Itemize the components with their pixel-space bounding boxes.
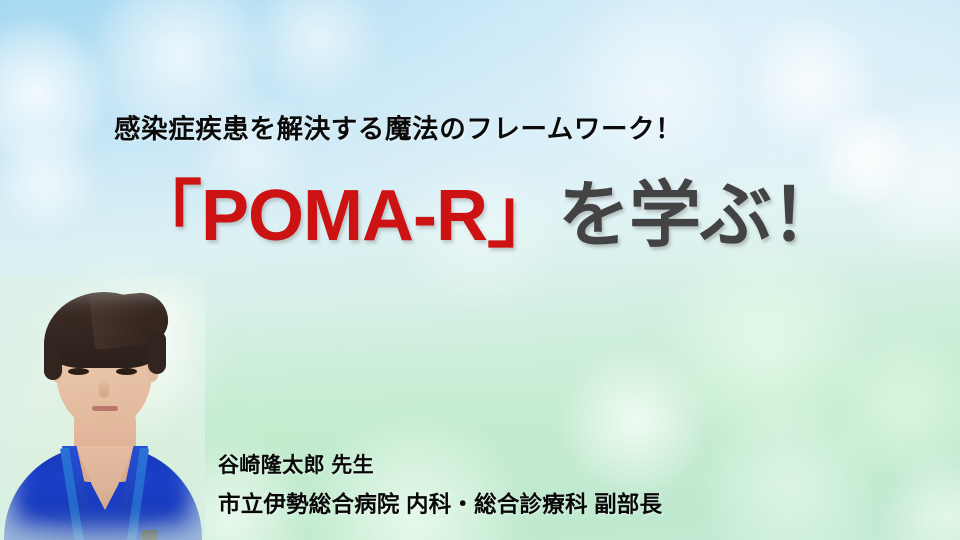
presenter-affiliation: 市立伊勢総合病院 内科・総合診療科 副部長	[218, 487, 662, 519]
presenter-photo	[0, 278, 205, 540]
title-highlight: 「POMA-R」	[130, 176, 558, 256]
title-rest: を学ぶ！	[558, 176, 842, 256]
photo-edge-blend	[0, 278, 205, 540]
presenter-name: 谷崎隆太郎 先生	[218, 449, 662, 479]
page-title: 「POMA-R」を学ぶ！	[130, 178, 842, 256]
slide-kicker: 感染症疾患を解決する魔法のフレームワーク！	[114, 107, 682, 146]
title-slide: 感染症疾患を解決する魔法のフレームワーク！ 「POMA-R」を学ぶ！ 谷崎隆太郎…	[0, 0, 960, 540]
presenter-credit: 谷崎隆太郎 先生 市立伊勢総合病院 内科・総合診療科 副部長	[218, 449, 662, 519]
